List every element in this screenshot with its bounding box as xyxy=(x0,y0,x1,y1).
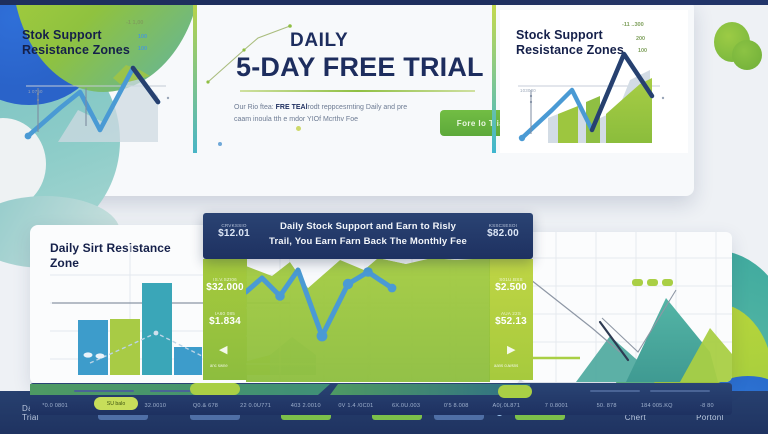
axis-tick-2: 32.0010 xyxy=(130,403,180,409)
rail-green-pill-left[interactable] xyxy=(190,383,240,395)
overlay-right-chip-2: AUA 22S $52.13 xyxy=(489,311,533,327)
background-blob-green-topright-small xyxy=(732,40,762,70)
banner-left-price-chip: CRVKSSIO $12.01 xyxy=(211,223,257,239)
banner-headline: Daily Stock Support and Earn to Risly Tr… xyxy=(259,220,477,249)
axis-tick-13: -8 80 xyxy=(682,403,732,409)
overlay-right-chip-1: S01U.BSS $2.500 xyxy=(489,277,533,293)
banner-right-price-chip: KSSCSESOI $82.00 xyxy=(479,223,527,239)
overlay-right-value-column: S01U.BSS $2.500 AUA 22S $52.13 ▶ aans cu… xyxy=(489,259,533,380)
overlay-left-chip-1-caption: IS.V.SZI06 xyxy=(203,277,247,282)
rail-line-1 xyxy=(74,390,134,392)
top-left-chart-card: Stok Support Resistance Zones 1 0760 -1 … xyxy=(8,10,193,153)
promo-graphic-root: Stok Support Resistance Zones 1 0760 -1 … xyxy=(0,0,768,434)
overlay-left-chip-1: IS.V.SZI06 $32.000 xyxy=(203,277,247,293)
center-promo-banner: CRVKSSIO $12.01 Daily Stock Support and … xyxy=(203,213,533,259)
axis-tick-row: *0.0 0801 32.0010 Q0.& 678 22 0.0U771 40… xyxy=(30,399,732,413)
overlay-right-chip-1-value: $2.500 xyxy=(489,282,533,293)
hero-subtitle-emphasis: FRE TEAl xyxy=(276,104,308,111)
overlay-left-footnote: anc swne xyxy=(210,363,228,368)
axis-tick-7: 6X.0U.003 xyxy=(381,403,431,409)
panel-divider-left xyxy=(193,5,197,153)
panel-divider-right xyxy=(492,5,496,153)
banner-left-chip-caption: CRVKSSIO xyxy=(211,223,257,228)
overlay-right-footnote: aans cuwsns xyxy=(494,363,518,368)
overlay-right-chip-2-caption: AUA 22S xyxy=(489,311,533,316)
overlay-left-chip-2-value: $1.834 xyxy=(203,316,247,327)
axis-tick-10: 7 0.8001 xyxy=(531,403,581,409)
axis-tick-3: Q0.& 678 xyxy=(180,403,230,409)
overlay-right-chip-1-caption: S01U.BSS xyxy=(489,277,533,282)
hero-accent-dot-2 xyxy=(218,142,222,146)
overlay-next-arrow-icon[interactable]: ▶ xyxy=(507,343,515,356)
top-right-chart-card: Stock Support Resistance Zones 103000 -1… xyxy=(500,10,688,153)
banner-right-chip-value: $82.00 xyxy=(479,228,527,239)
bottom-right-chart-card xyxy=(520,232,732,382)
panel-accent-bar xyxy=(0,0,694,5)
banner-left-chip-value: $12.01 xyxy=(211,228,257,239)
overlay-right-chip-2-value: $52.13 xyxy=(489,316,533,327)
hero-eyebrow: DAILY xyxy=(290,30,348,52)
axis-tick-4: 22 0.0U771 xyxy=(231,403,281,409)
banner-headline-line-2: Trail, You Earn Farn Back The Monthly Fe… xyxy=(259,235,477,250)
axis-tick-9: A0(.0L871 xyxy=(481,403,531,409)
hero-title: 5-DAY FREE TRIAL xyxy=(236,52,484,83)
bottom-axis-rail: SU balo *0.0 0801 32.0010 Q0.& 678 22 0.… xyxy=(30,383,732,415)
axis-tick-8: 0'5 8.008 xyxy=(431,403,481,409)
banner-headline-line-1: Daily Stock Support and Earn to Risly xyxy=(259,220,477,235)
axis-tick-11: 50. 878 xyxy=(582,403,632,409)
hero-subtitle: Our Rio ftea: FRE TEAlrodt reppcesrnting… xyxy=(234,102,409,126)
overlay-left-chip-2: IA60 085 $1.834 xyxy=(203,311,247,327)
axis-tick-0: *0.0 0801 xyxy=(30,403,80,409)
overlay-left-chip-1-value: $32.000 xyxy=(203,282,247,293)
axis-tick-6: 0V 1.4 /0C01 xyxy=(331,403,381,409)
hero-divider-rule xyxy=(240,90,475,92)
hero-block: DAILY 5-DAY FREE TRIAL Our Rio ftea: FRE… xyxy=(210,22,490,150)
overlay-left-chip-2-caption: IA60 085 xyxy=(203,311,247,316)
hero-accent-dot xyxy=(296,126,301,131)
axis-tick-5: 403 2.0010 xyxy=(281,403,331,409)
rail-line-3 xyxy=(590,390,640,392)
bottom-right-chart-svg xyxy=(520,232,732,382)
top-right-chart-svg xyxy=(500,10,688,153)
hero-subtitle-part1: Our Rio ftea: xyxy=(234,104,276,111)
axis-tick-12: 184 005.KQ xyxy=(632,403,682,409)
overlay-left-value-column: IS.V.SZI06 $32.000 IA60 085 $1.834 ◀ anc… xyxy=(203,259,247,380)
top-left-chart-svg xyxy=(8,10,193,153)
overlay-prev-arrow-icon[interactable]: ◀ xyxy=(219,343,227,356)
rail-line-4 xyxy=(650,390,710,392)
overlay-center-chart-svg xyxy=(246,258,490,382)
banner-right-chip-caption: KSSCSESOI xyxy=(479,223,527,228)
rail-green-pill-right[interactable] xyxy=(498,385,532,398)
